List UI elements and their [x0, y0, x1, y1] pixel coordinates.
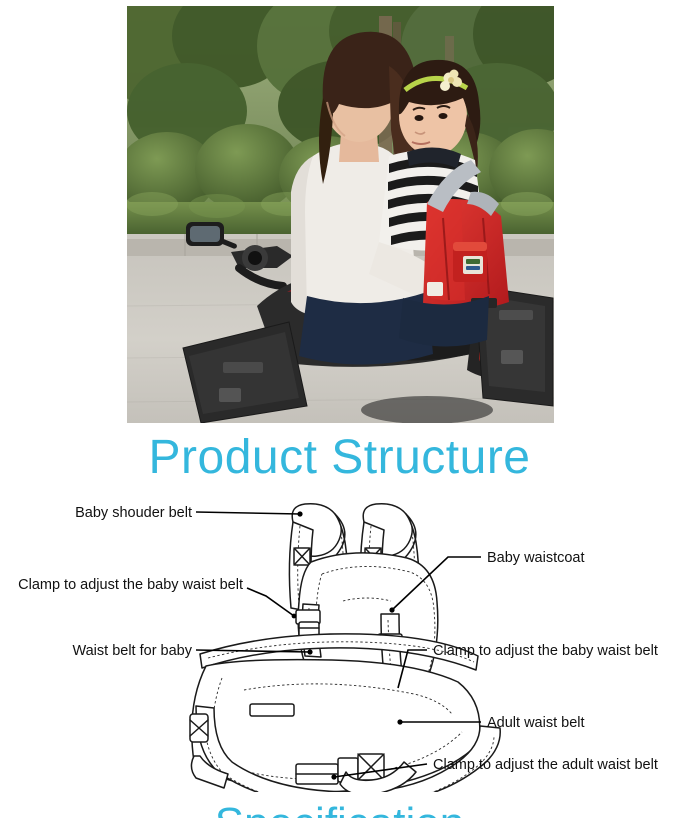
label-clamp-baby-waist-belt-right: Clamp to adjust the baby waist belt: [433, 643, 658, 659]
adult-belt-left-buckle: [190, 714, 208, 742]
section-title-specification: Specification: [0, 800, 679, 818]
leader-clamp-baby-left: [247, 588, 294, 616]
product-in-use-photo: [127, 6, 554, 423]
label-clamp-adult-waist-belt: Clamp to adjust the adult waist belt: [433, 757, 658, 773]
label-clamp-baby-waist-belt-left: Clamp to adjust the baby waist belt: [18, 577, 243, 593]
harness-line-drawing: Baby shouder belt Clamp to adjust the ba…: [0, 492, 679, 792]
specification-title-text: Specification: [215, 800, 464, 818]
product-structure-diagram: Baby shouder belt Clamp to adjust the ba…: [0, 492, 679, 792]
photo-illustration: [127, 6, 554, 423]
leader-baby-shoulder-belt: [196, 512, 300, 514]
label-waist-belt-for-baby: Waist belt for baby: [72, 643, 192, 659]
label-baby-shoulder-belt: Baby shouder belt: [75, 505, 192, 521]
section-title-product-structure: Product Structure: [0, 432, 679, 484]
label-baby-waistcoat: Baby waistcoat: [487, 550, 585, 566]
product-detail-page: Product Structure: [0, 0, 679, 818]
label-adult-waist-belt: Adult waist belt: [487, 715, 585, 731]
